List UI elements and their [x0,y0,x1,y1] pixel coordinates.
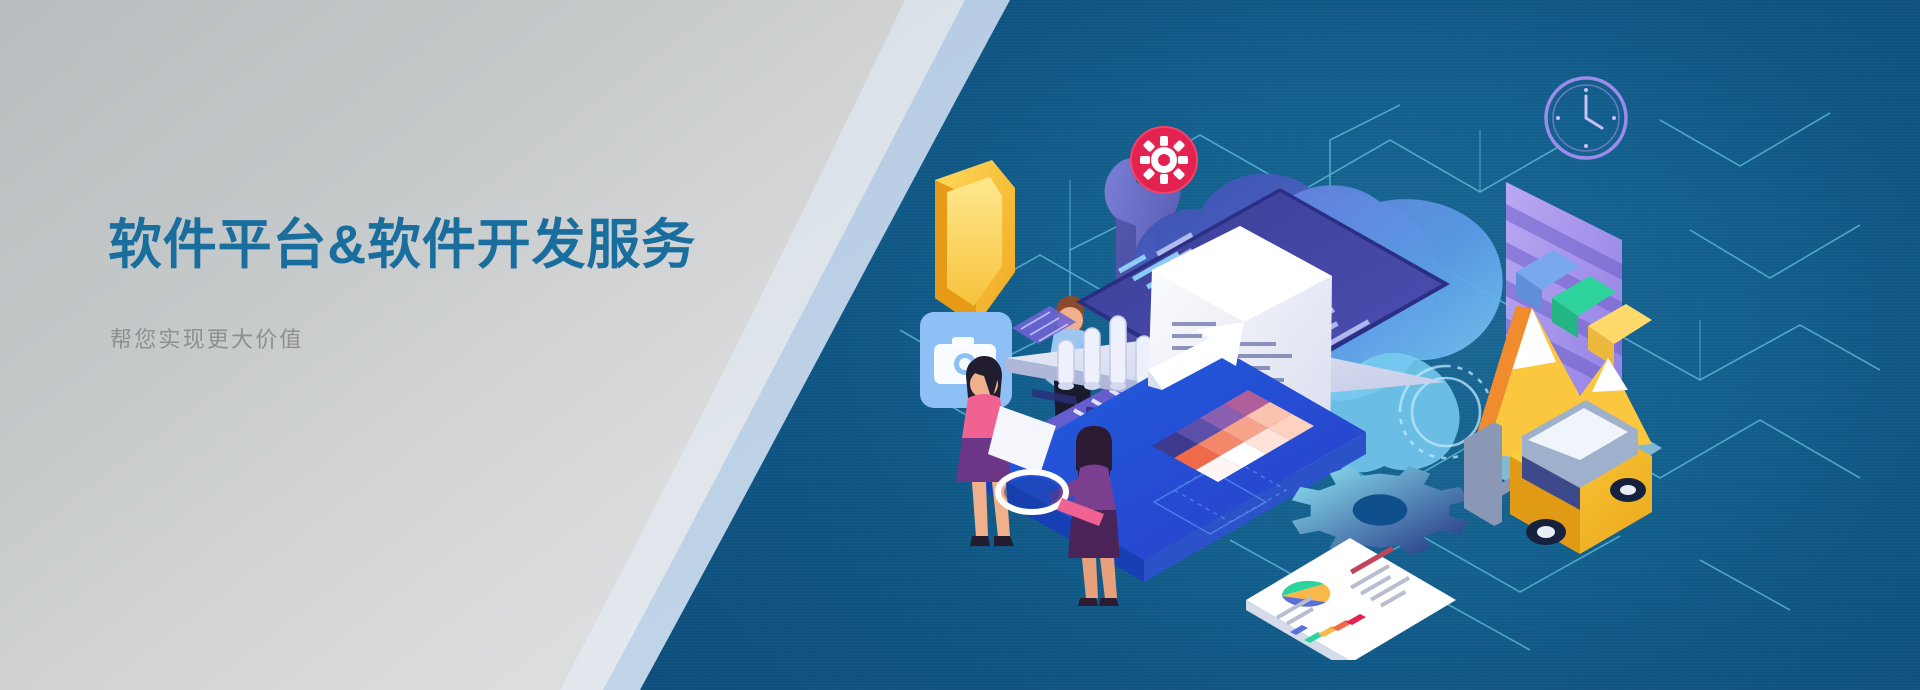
page-title: 软件平台&软件开发服务 [108,214,868,278]
illustration [880,40,1890,660]
illustration-svg [880,40,1890,660]
gear-badge-icon [1130,126,1198,194]
text-block: 软件平台&软件开发服务 帮您实现更大价值 [108,214,868,354]
page-subtitle: 帮您实现更大价值 [110,322,868,354]
news-document [1246,538,1456,660]
shield-icon [935,160,1015,326]
clock-icon [1546,78,1626,158]
forklift-vehicle [1464,400,1652,554]
banner-root: 软件平台&软件开发服务 帮您实现更大价值 [0,0,1920,690]
